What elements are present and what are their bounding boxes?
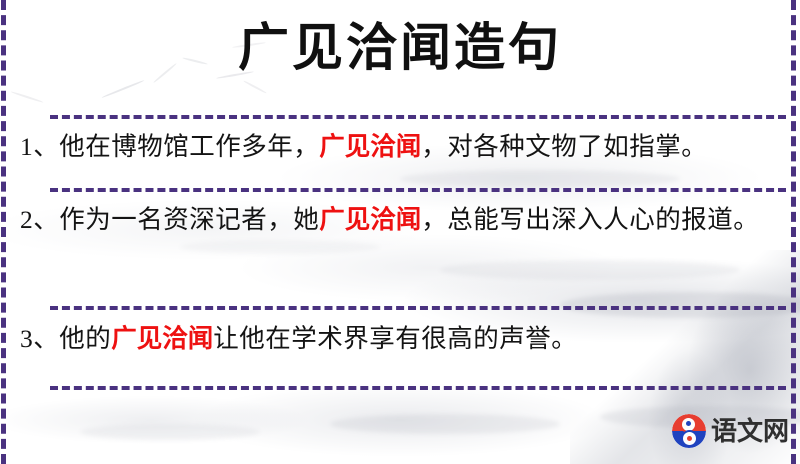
sentence-index-2: 2、 [20, 205, 59, 234]
background-ridge [440, 260, 740, 280]
sentence-text-before-1: 他在博物馆工作多年， [59, 132, 319, 161]
sentence-index-3: 3、 [20, 324, 59, 353]
sentence-text-after-1: ，对各种文物了如指掌。 [421, 132, 707, 161]
background-brush-stroke [11, 91, 44, 103]
yinyang-circle-logo-icon [672, 414, 706, 448]
background-ridge [400, 170, 680, 188]
sentence-index-1: 1、 [20, 132, 59, 161]
worksheet-page: 广见洽闻造句 1、他在博物馆工作多年，广见洽闻，对各种文物了如指掌。 2、作为一… [0, 0, 800, 464]
sentence-item-3: 3、他的广见洽闻让他在学术界享有很高的声誉。 [20, 316, 784, 362]
sentence-item-1: 1、他在博物馆工作多年，广见洽闻，对各种文物了如指掌。 [20, 124, 784, 170]
idiom-highlight-3: 广见洽闻 [111, 324, 213, 353]
sentence-text-before-3: 他的 [59, 324, 111, 353]
divider-rule-2 [50, 188, 786, 192]
divider-rule-1 [50, 115, 786, 119]
site-watermark: 语文网 [672, 414, 789, 448]
idiom-highlight-2: 广见洽闻 [319, 205, 421, 234]
background-ridge [80, 424, 260, 440]
idiom-highlight-1: 广见洽闻 [319, 132, 421, 161]
logo-ring [672, 414, 706, 448]
sentence-text-after-3: 让他在学术界享有很高的声誉。 [213, 324, 577, 353]
watermark-label: 语文网 [711, 416, 789, 446]
divider-rule-3 [50, 306, 786, 310]
background-ridge [330, 414, 560, 434]
divider-rule-4 [50, 386, 786, 390]
background-ridge [560, 292, 800, 318]
sentence-text-after-2: ，总能写出深入人心的报道。 [421, 205, 759, 234]
page-title: 广见洽闻造句 [0, 14, 800, 84]
sentence-text-before-2: 作为一名资深记者，她 [59, 205, 319, 234]
sentence-item-2: 2、作为一名资深记者，她广见洽闻，总能写出深入人心的报道。 [20, 197, 784, 243]
